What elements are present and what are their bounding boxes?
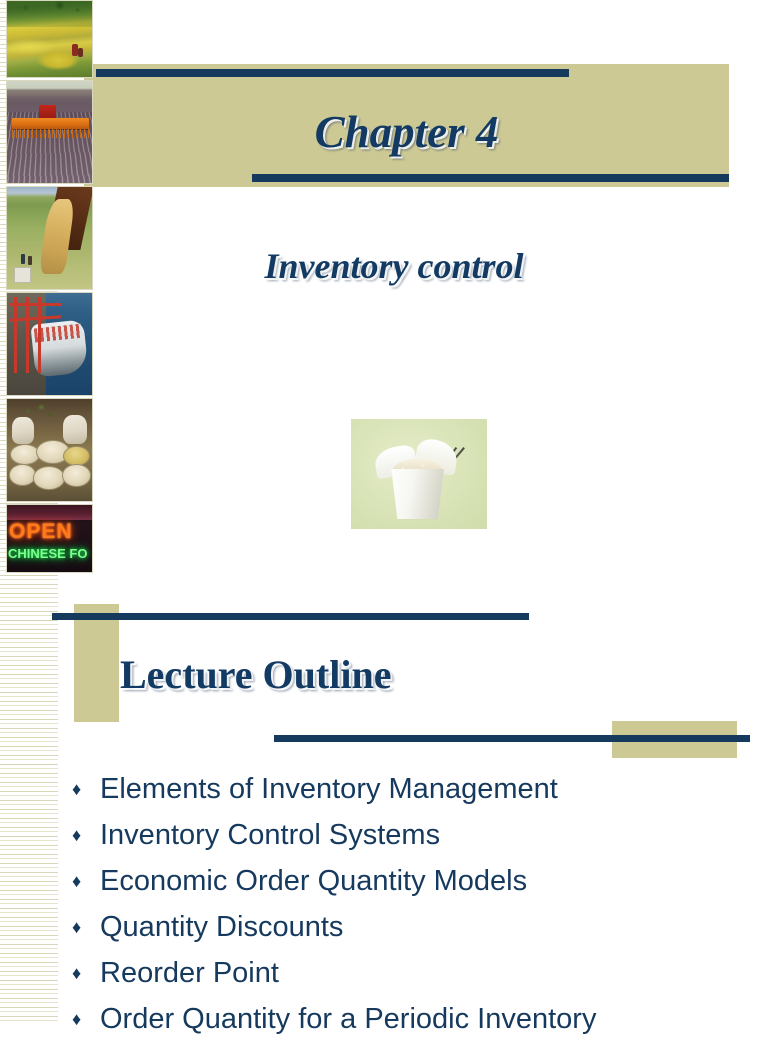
grain-basket-4 xyxy=(9,464,37,485)
grain-basket-3 xyxy=(63,446,91,466)
list-item: ♦ Quantity Discounts xyxy=(72,904,762,950)
grain-harvest-chute-photo xyxy=(6,186,93,290)
grain-basket-5 xyxy=(33,466,66,489)
list-item: ♦ Order Quantity for a Periodic Inventor… xyxy=(72,996,762,1042)
diamond-bullet-icon: ♦ xyxy=(72,858,100,904)
title-rule-bottom xyxy=(252,174,729,182)
outline-accent-bar xyxy=(74,604,119,722)
title-rule-top xyxy=(96,69,569,77)
diamond-bullet-icon: ♦ xyxy=(72,950,100,996)
diamond-bullet-icon: ♦ xyxy=(72,766,100,812)
diamond-bullet-icon: ♦ xyxy=(72,812,100,858)
field-person-2 xyxy=(28,256,32,265)
port-crane-3 xyxy=(38,297,41,372)
port-crane-2 xyxy=(26,297,29,372)
rice-paddy-field-photo xyxy=(6,0,93,78)
seed-drill-rig xyxy=(12,118,89,129)
list-item-label: Order Quantity for a Periodic Inventory xyxy=(100,996,596,1042)
outline-rule-top xyxy=(52,613,529,620)
outline-rule-bottom xyxy=(274,735,750,742)
diamond-bullet-icon: ♦ xyxy=(72,904,100,950)
container-port-photo xyxy=(6,292,93,396)
neon-open-text: OPEN xyxy=(9,521,73,542)
list-item: ♦ Inventory Control Systems xyxy=(72,812,762,858)
port-crane-1 xyxy=(14,297,17,372)
neon-sign-top-bar xyxy=(7,505,92,520)
field-worker-figure-2 xyxy=(78,48,83,57)
list-item: ♦ Elements of Inventory Management xyxy=(72,766,762,812)
list-item-label: Elements of Inventory Management xyxy=(100,766,558,812)
outline-heading: Lecture Outline xyxy=(120,655,391,695)
list-item-label: Economic Order Quantity Models xyxy=(100,858,527,904)
grain-sack-2 xyxy=(63,415,87,444)
tractor-seed-drill-photo xyxy=(6,80,93,184)
left-photo-strip: OPEN CHINESE FO xyxy=(6,0,93,573)
outline-bullet-list: ♦ Elements of Inventory Management ♦ Inv… xyxy=(72,766,762,1042)
grain-basket-6 xyxy=(62,464,91,486)
field-person xyxy=(21,254,25,264)
page-title: Chapter 4 xyxy=(84,110,729,155)
list-item-label: Reorder Point xyxy=(100,950,279,996)
list-item: ♦ Economic Order Quantity Models xyxy=(72,858,762,904)
chinese-takeout-box-image xyxy=(351,419,487,529)
list-item: ♦ Reorder Point xyxy=(72,950,762,996)
crane-boom-1 xyxy=(10,303,61,306)
neon-open-sign-photo: OPEN CHINESE FO xyxy=(6,504,93,573)
grain-sack-1 xyxy=(12,417,34,444)
grain-collection-box xyxy=(14,267,31,283)
list-item-label: Inventory Control Systems xyxy=(100,812,440,858)
list-item-label: Quantity Discounts xyxy=(100,904,343,950)
rice-sacks-market-photo xyxy=(6,398,93,502)
diamond-bullet-icon: ♦ xyxy=(72,996,100,1042)
neon-chinese-food-text: CHINESE FO xyxy=(8,547,87,560)
slide-subtitle: Inventory control xyxy=(84,248,704,284)
takeout-box-body xyxy=(388,469,448,520)
